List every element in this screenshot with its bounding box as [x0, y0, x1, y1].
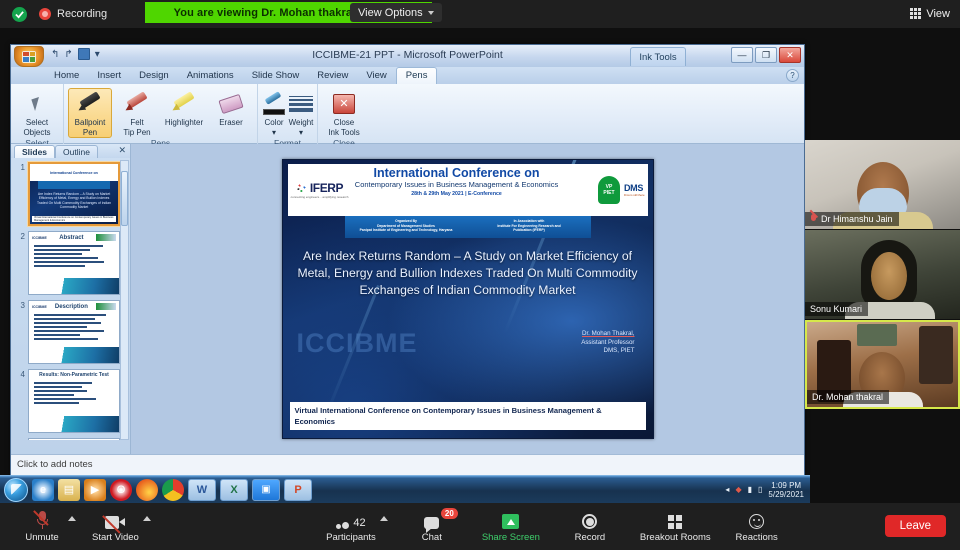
network-icon[interactable]: ▮	[748, 485, 752, 494]
zoom-meeting-window: Recording You are viewing Dr. Mohan thak…	[0, 0, 960, 550]
dms-logo-sub: Dms is still there	[624, 193, 645, 197]
windows-logo-icon	[11, 484, 22, 495]
thumbnail-number: 4	[17, 369, 25, 433]
ribbon-tab-strip[interactable]: Home Insert Design Animations Slide Show…	[11, 67, 804, 84]
thumb-title-text: Are Index Returns Random – A Study on Ma…	[30, 189, 118, 213]
taskbar-clock[interactable]: 1:09 PM 5/29/2021	[768, 481, 804, 499]
record-button[interactable]: Record	[562, 510, 618, 543]
participant-name: Dr Himanshu Jain	[821, 214, 893, 224]
felt-tip-pen-button[interactable]: Felt Tip Pen	[115, 88, 159, 138]
dms-logo-block: DMS Dms is still there	[624, 183, 645, 197]
share-screen-button[interactable]: Share Screen	[476, 510, 546, 543]
reactions-icon	[749, 510, 764, 529]
chat-icon	[424, 510, 439, 529]
participant-name-label: Sonu Kumari	[805, 302, 868, 316]
select-objects-line1: Select	[26, 118, 48, 127]
ribbon-group-close: ✕ Close Ink Tools Close	[317, 84, 370, 144]
pane-tab-strip[interactable]: Slides Outline ✕	[11, 144, 130, 158]
thumbnail-number: 3	[17, 300, 25, 364]
ribbon-tab-review[interactable]: Review	[308, 68, 357, 84]
ballpoint-pen-icon	[77, 91, 103, 117]
record-icon	[582, 510, 597, 529]
thumbnail-slide-2[interactable]: ICCIBME Abstract	[28, 231, 120, 295]
background-wall	[919, 326, 953, 384]
thumb-wave-decoration	[29, 347, 119, 363]
current-slide[interactable]: IFERP connecting engineers... amplifying…	[282, 159, 654, 439]
ribbon-group-pens: Ballpoint Pen Felt Tip Pen	[63, 84, 257, 144]
mic-muted-icon	[810, 214, 817, 224]
start-button[interactable]	[4, 478, 28, 502]
clock-date: 5/29/2021	[768, 490, 804, 499]
recording-indicator[interactable]: Recording	[39, 8, 107, 20]
help-icon[interactable]: ?	[786, 69, 799, 82]
leave-meeting-button[interactable]: Leave	[885, 515, 946, 537]
ink-tools-contextual-tab: Ink Tools	[630, 47, 686, 66]
chrome-icon[interactable]	[162, 479, 184, 501]
view-options-button[interactable]: View Options	[350, 3, 442, 22]
participant-face	[871, 252, 907, 300]
thumb-wave-decoration	[29, 278, 119, 294]
audio-options-chevron-icon[interactable]	[68, 516, 76, 521]
thumb-heading: Description	[55, 304, 88, 310]
thumbnail-item[interactable]: 2 ICCIBME Abstract	[17, 231, 124, 295]
close-ink-tools-icon: ✕	[333, 91, 355, 117]
eraser-button[interactable]: Eraser	[209, 88, 253, 129]
windows-taskbar: e ▤ ▶ O W X ▣ P ◂ ◆ ▮ ▯ 1:09 PM 5/29/202…	[0, 475, 810, 503]
powerpoint-window: ↰ ↱ ▾ ICCIBME-21 PPT - Microsoft PowerPo…	[10, 44, 805, 475]
thumb-logo-icon	[96, 234, 116, 241]
grid-icon	[910, 8, 921, 19]
piet-logo-text: PIET	[603, 190, 614, 196]
thumb-body-lines	[29, 312, 119, 344]
slide-editing-area[interactable]: IFERP connecting engineers... amplifying…	[131, 144, 804, 454]
opera-icon[interactable]: O	[110, 479, 132, 501]
video-options-chevron-icon[interactable]	[143, 516, 151, 521]
ribbon-tab-view[interactable]: View	[357, 68, 395, 84]
participant-name-label: Dr. Mohan thakral	[807, 390, 889, 404]
zoom-top-bar: Recording You are viewing Dr. Mohan thak…	[0, 0, 960, 28]
highlighter-button[interactable]: Highlighter	[162, 88, 206, 129]
view-layout-button[interactable]: View	[910, 4, 950, 23]
camera-muted-icon	[105, 510, 125, 529]
felt-tip-pen-line1: Felt	[130, 118, 143, 127]
conference-line1: International Conference on	[352, 166, 562, 180]
ribbon: Select Objects Select Ballpoint Pen	[11, 84, 804, 144]
thumbnail-slide-3[interactable]: ICCIBME Description	[28, 300, 120, 364]
powerpoint-body: Slides Outline ✕ 1 International Confere…	[11, 144, 804, 454]
pane-tab-slides[interactable]: Slides	[14, 145, 55, 158]
thumb-wave-decoration	[29, 416, 119, 432]
presenter-name: Dr. Mohan Thakral,	[581, 330, 634, 339]
slide-footer-banner[interactable]: Virtual International Conference on Cont…	[290, 402, 646, 430]
ink-color-line2: ▾	[272, 128, 276, 137]
view-button-label: View	[926, 8, 950, 20]
participant-name-label: Dr Himanshu Jain	[805, 212, 899, 226]
iferp-tagline: connecting engineers... amplifying resea…	[291, 195, 349, 199]
record-dot-icon	[39, 8, 51, 20]
video-tile-himanshu-jain[interactable]: Dr Himanshu Jain	[805, 140, 960, 229]
iferp-dots-icon	[296, 182, 308, 194]
ink-weight-icon	[289, 91, 313, 117]
thumb-org-band	[38, 181, 110, 189]
view-options-label: View Options	[358, 7, 423, 19]
window-controls[interactable]: — ❐ ✕	[731, 47, 801, 63]
felt-tip-pen-line2: Tip Pen	[123, 128, 150, 137]
cursor-arrow-icon	[33, 91, 41, 117]
file-explorer-icon[interactable]: ▤	[58, 479, 80, 501]
thumb-body-lines	[29, 243, 119, 271]
ballpoint-pen-line2: Pen	[83, 128, 97, 137]
thumbnail-preview: ICCIBME Description	[29, 301, 119, 363]
background-frame	[857, 324, 897, 346]
thumbnail-preview: Results: Non-Parametric Test	[29, 370, 119, 432]
conference-line2: Contemporary Issues in Business Manageme…	[352, 180, 562, 190]
thumb-heading: Abstract	[59, 235, 83, 241]
microphone-muted-icon	[36, 510, 49, 529]
scrollbar-thumb[interactable]	[121, 171, 128, 226]
select-objects-line2: Objects	[23, 128, 50, 137]
taskbar-window-word[interactable]: W	[188, 479, 216, 501]
taskbar-window-powerpoint[interactable]: P	[284, 479, 312, 501]
thumbnail-slide-4[interactable]: Results: Non-Parametric Test	[28, 369, 120, 433]
thumb-head: ICCIBME Description	[29, 301, 119, 312]
thumb-conf-title: International Conference on	[50, 171, 98, 175]
thumb-footer: Virtual International Conference on Cont…	[32, 216, 116, 222]
thumbnail-item[interactable]: 5 ICCIBME Results	[17, 438, 124, 440]
record-label: Record	[575, 532, 606, 543]
thumbnail-number: 5	[17, 438, 25, 440]
ribbon-group-select: Select Objects Select	[11, 84, 63, 144]
select-objects-button[interactable]: Select Objects	[15, 88, 59, 138]
thumbnail-number: 2	[17, 231, 25, 295]
eraser-icon	[220, 91, 242, 117]
chat-button[interactable]: 20 Chat	[404, 510, 460, 543]
ribbon-tab-insert[interactable]: Insert	[88, 68, 130, 84]
thumbnail-item[interactable]: 1 International Conference on Are Index …	[17, 162, 124, 226]
ink-weight-line2: ▾	[299, 128, 303, 137]
presenter-dept: DMS, PIET	[581, 347, 634, 356]
clock-time: 1:09 PM	[768, 481, 804, 490]
video-tile-sonu-kumari[interactable]: Sonu Kumari	[805, 230, 960, 319]
mute-button-label: Unmute	[25, 532, 58, 543]
thumb-heading: Results: Non-Parametric Test	[39, 372, 109, 378]
system-tray[interactable]: ◂ ◆ ▮ ▯ 1:09 PM 5/29/2021	[725, 481, 810, 499]
share-screen-label: Share Screen	[482, 532, 540, 543]
start-video-label: Start Video	[92, 532, 139, 543]
piet-logo-icon: VP PIET	[598, 176, 620, 204]
participants-label: Participants	[326, 532, 376, 543]
slide-watermark: ICCIBME	[297, 328, 418, 359]
pane-tab-outline[interactable]: Outline	[55, 145, 98, 158]
ballpoint-pen-button[interactable]: Ballpoint Pen	[68, 88, 112, 138]
eraser-line1: Eraser	[219, 118, 243, 127]
conference-line3: 28th & 29th May 2021 | E-Conference	[352, 190, 562, 198]
ink-weight-button[interactable]: Weight ▾	[289, 88, 313, 138]
mute-button[interactable]: Unmute	[14, 510, 70, 543]
thumbnail-list[interactable]: 1 International Conference on Are Index …	[11, 158, 130, 440]
thumbnail-preview: International Conference on Are Index Re…	[30, 164, 118, 224]
taskbar-window-excel[interactable]: X	[220, 479, 248, 501]
volume-icon[interactable]: ▯	[758, 485, 762, 494]
recording-label: Recording	[57, 8, 107, 20]
iferp-logo-block: IFERP connecting engineers... amplifying…	[288, 164, 352, 216]
thumb-head: ICCIBME Abstract	[29, 232, 119, 243]
presenter-role: Assistant Professor	[581, 339, 634, 348]
partner-logos: VP PIET DMS Dms is still there	[562, 164, 648, 216]
ribbon-tab-home[interactable]: Home	[45, 68, 88, 84]
reactions-label: Reactions	[736, 532, 778, 543]
thumbnail-scrollbar[interactable]	[120, 160, 129, 440]
breakout-rooms-button[interactable]: Breakout Rooms	[634, 510, 717, 543]
close-pane-icon[interactable]: ✕	[118, 145, 126, 156]
iferp-logo-text: IFERP	[310, 181, 343, 195]
participants-icon: 42	[336, 510, 365, 529]
conference-title-block: International Conference on Contemporary…	[352, 164, 562, 216]
thumb-head: ICCIBME Results	[29, 439, 119, 440]
ribbon-group-format: Color ▾ Weight ▾ Format	[257, 84, 317, 144]
felt-tip-pen-icon	[124, 91, 150, 117]
participant-name: Sonu Kumari	[810, 304, 862, 314]
thumb-body-lines	[29, 380, 119, 408]
internet-explorer-icon[interactable]: e	[32, 479, 54, 501]
thumbnail-slide-5[interactable]: ICCIBME Results	[28, 438, 120, 440]
thumbnail-item[interactable]: 3 ICCIBME Description	[17, 300, 124, 364]
zoom-control-bar: Unmute Start Video 42 Participants 20	[0, 503, 960, 550]
organizer-band: Organized By Department of Management St…	[345, 216, 591, 238]
minimize-button[interactable]: —	[731, 47, 753, 63]
participant-name: Dr. Mohan thakral	[812, 392, 883, 402]
encryption-shield[interactable]	[12, 7, 27, 22]
maximize-button[interactable]: ❐	[755, 47, 777, 63]
media-player-icon[interactable]: ▶	[84, 479, 106, 501]
video-tile-mohan-thakral[interactable]: Dr. Mohan thakral	[805, 320, 960, 409]
firefox-icon[interactable]	[136, 479, 158, 501]
presenter-block: Dr. Mohan Thakral, Assistant Professor D…	[581, 330, 634, 356]
thumbnail-number: 1	[17, 162, 25, 226]
breakout-rooms-label: Breakout Rooms	[640, 532, 711, 543]
ribbon-tab-pens[interactable]: Pens	[396, 67, 438, 84]
dms-logo-text: DMS	[624, 183, 645, 193]
association-text: In Association with Institute For Engine…	[468, 216, 591, 238]
participants-chevron-icon[interactable]	[380, 516, 388, 521]
ink-color-icon	[263, 91, 285, 117]
participant-video-strip: Dr Himanshu Jain Sonu Kumari Dr. Mohan t…	[805, 140, 960, 410]
thumb-logo-icon	[96, 303, 116, 310]
thumbnail-preview: ICCIBME Results	[29, 439, 119, 440]
breakout-rooms-icon	[668, 510, 682, 529]
start-video-button[interactable]: Start Video	[86, 510, 145, 543]
highlighter-icon	[171, 91, 197, 117]
shield-icon	[12, 7, 27, 22]
ribbon-tab-slide-show[interactable]: Slide Show	[243, 68, 309, 84]
ink-color-button[interactable]: Color ▾	[262, 88, 286, 138]
close-ink-tools-button[interactable]: ✕ Close Ink Tools	[322, 88, 366, 138]
thumb-head: Results: Non-Parametric Test	[29, 370, 119, 380]
slide-header-banner: IFERP connecting engineers... amplifying…	[288, 164, 648, 216]
thumb-brand: ICCIBME	[32, 305, 47, 309]
participants-button[interactable]: 42 Participants	[320, 510, 382, 543]
close-button[interactable]: ✕	[779, 47, 801, 63]
ink-weight-line1: Weight	[289, 118, 314, 127]
participants-count: 42	[353, 517, 365, 529]
share-screen-icon	[502, 510, 519, 529]
thumbnail-slide-1[interactable]: International Conference on Are Index Re…	[28, 162, 120, 226]
ink-color-line1: Color	[264, 118, 283, 127]
reactions-button[interactable]: Reactions	[729, 510, 785, 543]
notes-placeholder[interactable]: Click to add notes	[17, 459, 798, 470]
thumbnail-preview: ICCIBME Abstract	[29, 232, 119, 294]
chat-unread-badge: 20	[441, 508, 458, 519]
organized-by-text: Organized By Department of Management St…	[345, 216, 468, 238]
highlighter-line1: Highlighter	[165, 118, 203, 127]
thumbnail-item[interactable]: 4 Results: Non-Parametric Test	[17, 369, 124, 433]
thumb-brand: ICCIBME	[32, 236, 47, 240]
slides-thumbnail-pane: Slides Outline ✕ 1 International Confere…	[11, 144, 131, 454]
chat-label: Chat	[422, 532, 442, 543]
show-hidden-icons[interactable]: ◂	[725, 485, 729, 494]
slide-title-text[interactable]: Are Index Returns Random – A Study on Ma…	[297, 248, 639, 299]
close-ink-line1: Close	[334, 118, 354, 127]
thumb-header-band: International Conference on	[30, 164, 118, 181]
close-ink-line2: Ink Tools	[328, 128, 359, 137]
powerpoint-title-bar[interactable]: ↰ ↱ ▾ ICCIBME-21 PPT - Microsoft PowerPo…	[11, 45, 804, 67]
ballpoint-pen-line1: Ballpoint	[75, 118, 106, 127]
chevron-down-icon	[428, 11, 434, 15]
ribbon-tab-design[interactable]: Design	[130, 68, 178, 84]
antivirus-icon[interactable]: ◆	[735, 485, 741, 494]
taskbar-window-zoom[interactable]: ▣	[252, 479, 280, 501]
ribbon-tab-animations[interactable]: Animations	[178, 68, 243, 84]
